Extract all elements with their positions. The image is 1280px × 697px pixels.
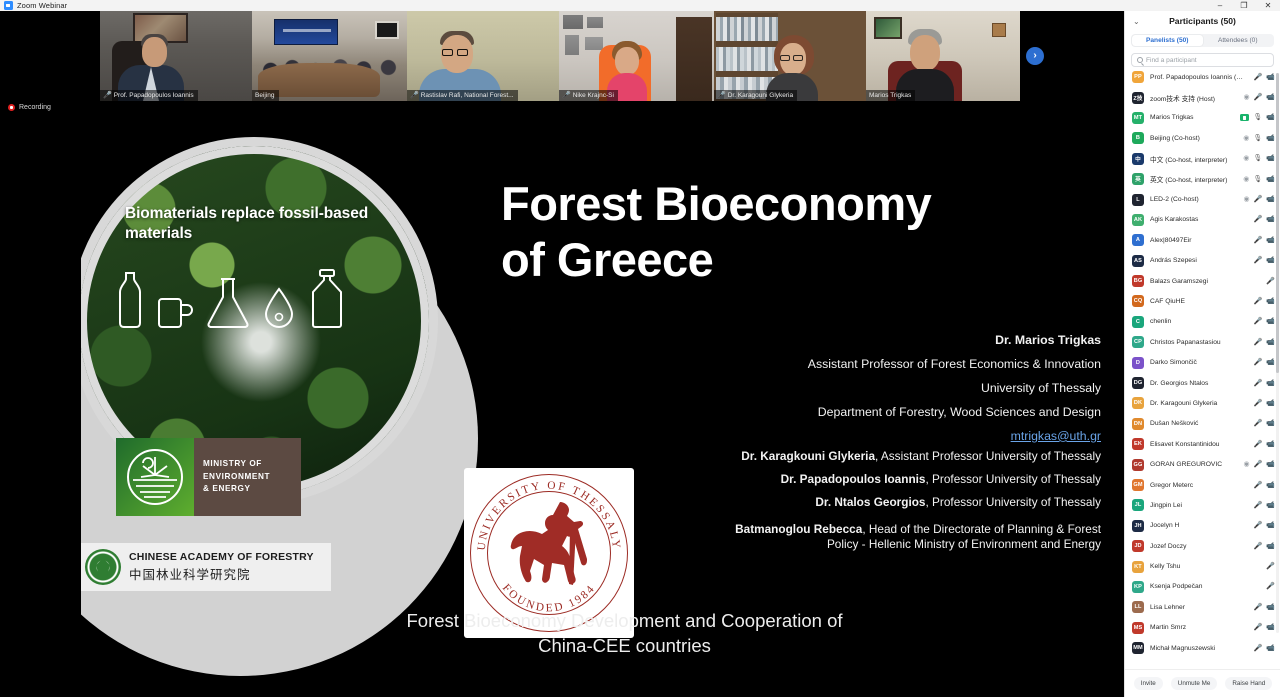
muted-mic-icon: 🎤 (410, 92, 419, 99)
participants-list[interactable]: PPProf. Papadopoulos Ioannis (Me)🎤📹Z技zoo… (1125, 67, 1280, 679)
participants-panel: ⌄ Participants (50) Panelists (50)Attend… (1124, 11, 1280, 697)
participant-row[interactable]: KPKsenja Podpečan🎤 (1125, 577, 1280, 597)
participants-title: Participants (50) (1169, 16, 1236, 26)
recording-indicator: Recording (8, 104, 51, 111)
participant-row[interactable]: GMGregor Meterc🎤📹 (1125, 475, 1280, 495)
video-tile[interactable]: 🎤Prof. Papadopoulos Ioannis (100, 11, 252, 101)
participant-row[interactable]: BGBalazs Garamszegi🎤 (1125, 271, 1280, 291)
unmute-me-button[interactable]: Unmute Me (1171, 677, 1218, 690)
participant-status-icons: ◉🎤📹 (1243, 196, 1275, 203)
participant-name: Kelly Tshu (1150, 563, 1260, 570)
participant-status-icons: 🎤📹 (1254, 502, 1275, 509)
avatar: DG (1132, 377, 1144, 389)
chevron-down-icon[interactable]: ⌄ (1133, 17, 1140, 26)
participant-status-icons: 🎤📹 (1254, 339, 1275, 346)
co-author-row: Dr. Karagkouni Glykeria, Assistant Profe… (631, 445, 1101, 468)
presenter-email-link[interactable]: mtrigkas@uth.gr (1011, 429, 1101, 443)
avatar: B (1132, 132, 1144, 144)
biomaterials-caption: Biomaterials replace fossil-based materi… (125, 204, 375, 244)
biomaterials-icon-row (115, 263, 385, 329)
video-tile-nametag: Beijing (252, 90, 279, 101)
participant-row[interactable]: MTMarios Trigkas🎙📹 (1125, 108, 1280, 128)
muted-mic-icon[interactable]: 🎤 (1254, 237, 1263, 244)
video-off-icon[interactable]: 📹 (1266, 482, 1275, 489)
window-title: Zoom Webinar (17, 1, 67, 10)
muted-mic-icon[interactable]: 🎤 (1254, 645, 1263, 652)
participant-name: Jocelyn H (1150, 522, 1248, 529)
participant-name: Christos Papanastasiou (1150, 339, 1248, 346)
participant-row[interactable]: DDarko Simončič🎤📹 (1125, 352, 1280, 372)
avatar: KT (1132, 561, 1144, 573)
video-tile-nametag: 🎤Dr. Karagouni Glykeria (714, 90, 797, 101)
participant-status-icons: 🎤📹 (1254, 645, 1275, 652)
participant-status-icons: 🎤📹 (1254, 604, 1275, 611)
participant-row[interactable]: DNDušan Nešković🎤📹 (1125, 414, 1280, 434)
participant-row[interactable]: AKAgis Karakostas🎤📹 (1125, 210, 1280, 230)
participants-panel-header: ⌄ Participants (50) (1125, 11, 1280, 31)
avatar: MT (1132, 112, 1144, 124)
raise-hand-button[interactable]: Raise Hand (1225, 677, 1272, 690)
slide-footer-line2: China-CEE countries (538, 635, 711, 656)
co-author-name: Dr. Papadopoulos Ioannis (781, 472, 926, 486)
participant-name: Alex|80497Eir (1150, 237, 1248, 244)
participant-name: Balazs Garamszegi (1150, 278, 1260, 285)
co-author-name: Batmanoglou Rebecca (735, 522, 862, 536)
avatar: CQ (1132, 295, 1144, 307)
video-off-icon[interactable]: 📹 (1266, 502, 1275, 509)
video-tile-name: Nike Krajnc-Si (573, 92, 614, 99)
muted-mic-icon[interactable]: 🎤 (1254, 318, 1263, 325)
participant-status-icons: 🎤📹 (1254, 482, 1275, 489)
participant-status-icons: 🎤 (1266, 583, 1275, 590)
avatar: A (1132, 234, 1144, 246)
video-icon[interactable]: 📹 (1266, 74, 1275, 81)
participant-name: Dr. Georgios Ntalos (1150, 380, 1248, 387)
muted-mic-icon[interactable]: 🎤 (1254, 257, 1263, 264)
slide-title-line1: Forest Bioeconomy (501, 177, 931, 230)
more-options-icon[interactable]: ◉ (1243, 196, 1249, 203)
ministry-line-3: & ENERGY (203, 484, 251, 493)
participant-status-icons: ◉🎙📹 (1243, 176, 1275, 183)
avatar: BG (1132, 275, 1144, 287)
unmuted-badge-icon (1240, 114, 1249, 121)
filmstrip-next-button[interactable]: › (1026, 47, 1044, 65)
participant-name: GORAN GREGUROVIĆ (1150, 461, 1237, 468)
video-tile-nametag: 🎤Rastislav Rafi, National Forest... (407, 90, 518, 101)
more-options-icon[interactable]: ◉ (1243, 461, 1249, 468)
co-author-name: Dr. Ntalos Georgios (815, 495, 925, 509)
participant-status-icons: 🎤📹 (1254, 420, 1275, 427)
caf-english-name: CHINESE ACADEMY OF FORESTRY (129, 551, 314, 563)
avatar: JH (1132, 520, 1144, 532)
co-author-affiliation: , Assistant Professor University of Thes… (875, 449, 1101, 463)
video-tile[interactable]: Beijing (252, 11, 407, 101)
participant-row[interactable]: Cchenlin🎤📹 (1125, 312, 1280, 332)
video-tile-name: Dr. Karagouni Glykeria (728, 92, 793, 99)
participant-status-icons: 🎤📹 (1254, 237, 1275, 244)
avatar: GM (1132, 479, 1144, 491)
ministry-line-1: MINISTRY OF (203, 459, 262, 468)
slide-footer-line1: Forest Bioeconomy Development and Cooper… (406, 610, 842, 631)
participant-status-icons: 🎤📹 (1254, 380, 1275, 387)
participant-name: Agis Karakostas (1150, 216, 1248, 223)
detergent-bottle-icon (307, 269, 347, 329)
window-titlebar: Zoom Webinar – ❐ ✕ (0, 0, 1280, 11)
participant-name: Elisavet Konstantinidou (1150, 441, 1248, 448)
participant-name: Beijing (Co-host) (1150, 135, 1237, 142)
muted-mic-icon[interactable]: 🎤 (1254, 420, 1263, 427)
recording-icon (8, 104, 15, 111)
participant-name: LED-2 (Co-host) (1150, 196, 1237, 203)
participant-status-icons: 🎤📹 (1254, 216, 1275, 223)
muted-mic-icon[interactable]: 🎤 (1254, 461, 1263, 468)
muted-mic-icon[interactable]: 🎤 (1266, 278, 1275, 285)
more-options-icon[interactable]: ◉ (1243, 94, 1249, 101)
muted-mic-icon: 🎤 (562, 92, 571, 99)
avatar: MM (1132, 642, 1144, 654)
muted-mic-icon[interactable]: 🎤 (1254, 339, 1263, 346)
avatar: 中 (1132, 153, 1144, 165)
muted-mic-icon[interactable]: 🎤 (1254, 441, 1263, 448)
participant-status-icons: 🎙📹 (1240, 114, 1275, 121)
co-author-affiliation: , Professor University of Thessaly (926, 472, 1102, 486)
participant-row[interactable]: MSMartin Smrz🎤📹 (1125, 618, 1280, 638)
avatar: JD (1132, 540, 1144, 552)
participants-tabs: Panelists (50)Attendees (0) (1131, 34, 1274, 47)
video-off-icon[interactable]: 📹 (1266, 339, 1275, 346)
close-icon[interactable]: ✕ (1256, 0, 1280, 11)
avatar: D (1132, 357, 1144, 369)
avatar: DK (1132, 397, 1144, 409)
participants-scrollbar-thumb[interactable] (1276, 73, 1279, 373)
participant-name: 英文 (Co-host, interpreter) (1150, 174, 1237, 184)
video-off-icon[interactable]: 📹 (1266, 461, 1275, 468)
chinese-academy-of-forestry-logo: CHINESE ACADEMY OF FORESTRY 中国林业科学研究院 (81, 543, 331, 591)
video-icon[interactable]: 📹 (1266, 114, 1275, 121)
video-off-icon[interactable]: 📹 (1266, 359, 1275, 366)
participant-status-icons: 🎤📹 (1254, 522, 1275, 529)
avatar: AS (1132, 255, 1144, 267)
participant-row[interactable]: MMMichał Magnuszewski🎤📹 (1125, 638, 1280, 658)
participant-name: Jozef Doczy (1150, 543, 1248, 550)
video-off-icon[interactable]: 📹 (1266, 604, 1275, 611)
video-tile-name: Marios Trigkas (869, 92, 911, 99)
video-off-icon[interactable]: 📹 (1266, 298, 1275, 305)
participant-name: Michał Magnuszewski (1150, 645, 1248, 652)
muted-mic-icon[interactable]: 🎤 (1266, 563, 1275, 570)
participant-name: 中文 (Co-host, interpreter) (1150, 154, 1237, 164)
video-tile-nametag: 🎤Nike Krajnc-Si (559, 90, 618, 101)
avatar: DN (1132, 418, 1144, 430)
ministry-emblem-icon (116, 438, 194, 516)
muted-mic-icon[interactable]: 🎤 (1254, 298, 1263, 305)
participant-row[interactable]: 英英文 (Co-host, interpreter)◉🎙📹 (1125, 169, 1280, 189)
muted-mic-icon[interactable]: 🎤 (1254, 522, 1263, 529)
tab-panelists[interactable]: Panelists (50) (1132, 35, 1203, 46)
ministry-logo: MINISTRY OF ENVIRONMENT & ENERGY (116, 438, 301, 516)
participant-row[interactable]: CPChristos Papanastasiou🎤📹 (1125, 332, 1280, 352)
video-tile[interactable]: 🎤Dr. Karagouni Glykeria (714, 11, 866, 101)
find-participant-search[interactable] (1131, 53, 1274, 67)
video-off-icon[interactable]: 📹 (1266, 624, 1275, 631)
participant-name: Martin Smrz (1150, 624, 1248, 631)
avatar: L (1132, 194, 1144, 206)
presenter-name: Dr. Marios Trigkas (671, 329, 1101, 353)
video-off-icon[interactable]: 📹 (1266, 420, 1275, 427)
participant-status-icons: 🎤📹 (1254, 257, 1275, 264)
avatar: AK (1132, 214, 1144, 226)
avatar: MS (1132, 622, 1144, 634)
muted-mic-icon[interactable]: 🎤 (1254, 624, 1263, 631)
co-authors-list: Dr. Karagkouni Glykeria, Assistant Profe… (631, 445, 1101, 551)
participant-status-icons: ◉🎤📹 (1243, 94, 1275, 101)
participant-status-icons: 🎤📹 (1254, 624, 1275, 631)
muted-mic-icon[interactable]: 🎤 (1254, 359, 1263, 366)
co-author-row-last: Batmanoglou Rebecca, Head of the Directo… (631, 522, 1101, 551)
slide-footer: Forest Bioeconomy Development and Cooper… (81, 609, 1168, 659)
muted-mic-icon[interactable]: 🎤 (1254, 196, 1263, 203)
video-tile-name: Rastislav Rafi, National Forest... (421, 92, 514, 99)
caf-chinese-name: 中国林业科学研究院 (129, 564, 314, 583)
avatar: PP (1132, 71, 1144, 83)
slide-title-line2: of Greece (501, 233, 713, 286)
video-icon[interactable]: 📹 (1266, 400, 1275, 407)
ministry-line-2: ENVIRONMENT (203, 472, 270, 481)
video-off-icon[interactable]: 📹 (1266, 196, 1275, 203)
search-input[interactable] (1146, 57, 1268, 64)
video-tile[interactable]: 🎤Rastislav Rafi, National Forest... (407, 11, 559, 101)
video-tile-nametag: Marios Trigkas (866, 90, 915, 101)
participant-name: Ksenja Podpečan (1150, 583, 1260, 590)
participant-status-icons: 🎤📹 (1254, 359, 1275, 366)
avatar: JL (1132, 499, 1144, 511)
avatar: Z技 (1132, 92, 1144, 104)
muted-mic-icon[interactable]: 🎤 (1266, 583, 1275, 590)
muted-mic-icon[interactable]: 🎤 (1254, 502, 1263, 509)
avatar: GG (1132, 459, 1144, 471)
avatar: 英 (1132, 173, 1144, 185)
video-off-icon[interactable]: 📹 (1266, 522, 1275, 529)
participant-status-icons: 🎤 (1266, 563, 1275, 570)
participant-row[interactable]: PPProf. Papadopoulos Ioannis (Me)🎤📹 (1125, 67, 1280, 87)
presenter-department: Department of Forestry, Wood Sciences an… (671, 401, 1101, 425)
muted-mic-icon[interactable]: 🎤 (1254, 400, 1263, 407)
video-off-icon[interactable]: 📹 (1266, 645, 1275, 652)
co-author-affiliation-line1: , Head of the Directorate of Planning & … (862, 522, 1101, 536)
participant-status-icons: 🎤📹 (1254, 400, 1275, 407)
video-off-icon[interactable]: 📹 (1266, 176, 1275, 183)
avatar: CP (1132, 336, 1144, 348)
participant-row[interactable]: BBeijing (Co-host)◉🎙📹 (1125, 128, 1280, 148)
tab-attendees[interactable]: Attendees (0) (1203, 35, 1274, 46)
avatar: LL (1132, 601, 1144, 613)
video-tile[interactable]: Marios Trigkas (866, 11, 1020, 101)
participant-status-icons: 🎤📹 (1254, 543, 1275, 550)
co-author-row: Dr. Ntalos Georgios, Professor Universit… (631, 491, 1101, 514)
participant-row[interactable]: CQCAF QiuHE🎤📹 (1125, 291, 1280, 311)
muted-mic-icon[interactable]: 🎤 (1254, 94, 1263, 101)
participant-name: András Szepesi (1150, 257, 1248, 264)
participant-name: Dušan Nešković (1150, 420, 1248, 427)
participant-name: chenlin (1150, 318, 1248, 325)
participants-footer: InviteUnmute MeRaise Hand (1125, 669, 1280, 697)
seal-arc-text: UNIVERSITY OF THESSALY FOUNDED 1984 (471, 475, 627, 631)
minimize-icon[interactable]: – (1208, 0, 1232, 11)
zoom-webinar-window: Zoom Webinar – ❐ ✕ 🎤Prof. Papadopoulos I… (0, 0, 1280, 697)
participant-row[interactable]: 中中文 (Co-host, interpreter)◉🎙📹 (1125, 149, 1280, 169)
participant-status-icons: 🎤📹 (1254, 318, 1275, 325)
video-icon[interactable]: 📹 (1266, 135, 1275, 142)
video-tile-nametag: 🎤Prof. Papadopoulos Ioannis (100, 90, 198, 101)
participant-name: Marios Trigkas (1150, 114, 1234, 121)
avatar: C (1132, 316, 1144, 328)
muted-mic-icon[interactable]: 🎤 (1254, 482, 1263, 489)
participant-status-icons: 🎤📹 (1254, 74, 1275, 81)
presenter-university: University of Thessaly (671, 377, 1101, 401)
participant-row[interactable]: ASAndrás Szepesi🎤📹 (1125, 251, 1280, 271)
mic-icon[interactable]: 🎙 (1253, 155, 1262, 162)
video-icon[interactable]: 📹 (1266, 380, 1275, 387)
flask-icon (205, 277, 251, 329)
participant-name: Jingpin Lei (1150, 502, 1248, 509)
participant-name: Dr. Karagouni Glykeria (1150, 400, 1248, 407)
participant-row[interactable]: EKElisavet Konstantinidou🎤📹 (1125, 434, 1280, 454)
caf-emblem-icon (85, 549, 121, 585)
window-controls: – ❐ ✕ (1208, 0, 1280, 11)
participant-row[interactable]: JLJingpin Lei🎤📹 (1125, 495, 1280, 515)
presenter-credits: Dr. Marios Trigkas Assistant Professor o… (671, 329, 1101, 449)
video-off-icon[interactable]: 📹 (1266, 94, 1275, 101)
video-off-icon[interactable]: 📹 (1266, 543, 1275, 550)
mic-icon[interactable]: 🎙 (1253, 176, 1262, 183)
participant-row[interactable]: KTKelly Tshu🎤 (1125, 556, 1280, 576)
muted-mic-icon[interactable]: 🎤 (1254, 604, 1263, 611)
invite-button[interactable]: Invite (1134, 677, 1163, 690)
video-tile[interactable]: 🎤Nike Krajnc-Si (559, 11, 714, 101)
participant-name: Prof. Papadopoulos Ioannis (Me) (1150, 74, 1248, 81)
cup-icon (157, 293, 193, 329)
participant-row[interactable]: LLED-2 (Co-host)◉🎤📹 (1125, 189, 1280, 209)
participant-name: CAF QiuHE (1150, 298, 1248, 305)
muted-mic-icon[interactable]: 🎤 (1254, 543, 1263, 550)
participant-name: Lisa Lehner (1150, 604, 1248, 611)
search-icon (1137, 57, 1143, 63)
participant-row[interactable]: JHJocelyn H🎤📹 (1125, 516, 1280, 536)
svg-text:UNIVERSITY OF THESSALY: UNIVERSITY OF THESSALY (476, 480, 623, 551)
participant-name: Gregor Meterc (1150, 482, 1248, 489)
shared-slide: Biomaterials replace fossil-based materi… (81, 101, 1168, 697)
video-icon[interactable]: 📹 (1266, 216, 1275, 223)
muted-mic-icon[interactable]: 🎤 (1254, 74, 1263, 81)
participant-row[interactable]: Z技zoom技术 支持 (Host)◉🎤📹 (1125, 87, 1280, 107)
participant-status-icons: 🎤📹 (1254, 298, 1275, 305)
video-filmstrip: 🎤Prof. Papadopoulos IoannisBeijing🎤Rasti… (100, 11, 1020, 101)
mic-icon[interactable]: 🎙 (1253, 114, 1262, 121)
co-author-name: Dr. Karagkouni Glykeria (741, 449, 875, 463)
avatar: EK (1132, 438, 1144, 450)
video-off-icon[interactable]: 📹 (1266, 441, 1275, 448)
participant-status-icons: ◉🎙📹 (1243, 155, 1275, 162)
participant-name: zoom技术 支持 (Host) (1150, 93, 1237, 103)
muted-mic-icon[interactable]: 🎤 (1254, 216, 1263, 223)
presenter-role: Assistant Professor of Forest Economics … (671, 353, 1101, 377)
droplet-icon (263, 287, 295, 329)
video-tile-name: Prof. Papadopoulos Ioannis (114, 92, 194, 99)
mic-icon[interactable]: 🎙 (1253, 135, 1262, 142)
video-tile-name: Beijing (255, 92, 275, 99)
participant-status-icons: 🎤📹 (1254, 441, 1275, 448)
muted-mic-icon: 🎤 (717, 92, 726, 99)
avatar: KP (1132, 581, 1144, 593)
video-off-icon[interactable]: 📹 (1266, 318, 1275, 325)
zoom-app-icon (4, 1, 13, 10)
participant-row[interactable]: LLLisa Lehner🎤📹 (1125, 597, 1280, 617)
participant-status-icons: ◉🎤📹 (1243, 461, 1275, 468)
participant-status-icons: 🎤 (1266, 278, 1275, 285)
video-off-icon[interactable]: 📹 (1266, 237, 1275, 244)
participant-name: Darko Simončič (1150, 359, 1248, 366)
participant-row[interactable]: DGDr. Georgios Ntalos🎤📹 (1125, 373, 1280, 393)
muted-mic-icon[interactable]: 🎤 (1254, 380, 1263, 387)
co-author-row: Dr. Papadopoulos Ioannis, Professor Univ… (631, 468, 1101, 491)
muted-mic-icon: 🎤 (103, 92, 112, 99)
participant-row[interactable]: GGGORAN GREGUROVIĆ◉🎤📹 (1125, 454, 1280, 474)
more-options-icon[interactable]: ◉ (1243, 155, 1249, 162)
recording-label: Recording (19, 104, 51, 111)
video-off-icon[interactable]: 📹 (1266, 257, 1275, 264)
video-off-icon[interactable]: 📹 (1266, 155, 1275, 162)
more-options-icon[interactable]: ◉ (1243, 176, 1249, 183)
more-options-icon[interactable]: ◉ (1243, 135, 1249, 142)
participant-row[interactable]: DKDr. Karagouni Glykeria🎤📹 (1125, 393, 1280, 413)
bottle-icon (115, 271, 145, 329)
slide-title: Forest Bioeconomy of Greece (501, 176, 1101, 289)
co-author-affiliation: , Professor University of Thessaly (926, 495, 1102, 509)
ministry-logo-text: MINISTRY OF ENVIRONMENT & ENERGY (194, 438, 301, 516)
maximize-icon[interactable]: ❐ (1232, 0, 1256, 11)
participant-status-icons: ◉🎙📹 (1243, 135, 1275, 142)
participant-row[interactable]: AAlex|80497Eir🎤📹 (1125, 230, 1280, 250)
co-author-affiliation-line2: Policy - Hellenic Ministry of Environmen… (827, 537, 1101, 551)
participant-row[interactable]: JDJozef Doczy🎤📹 (1125, 536, 1280, 556)
